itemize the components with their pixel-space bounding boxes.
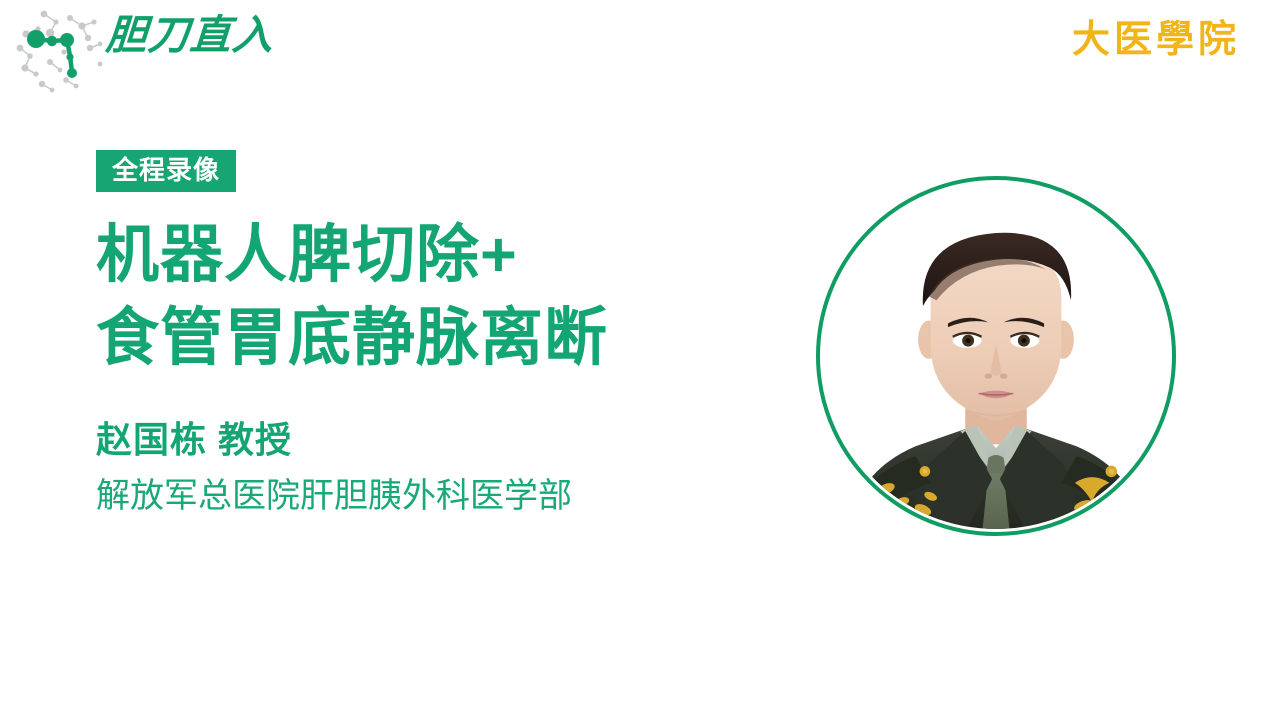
- brand-wordmark: 胆刀直入: [105, 15, 276, 56]
- avatar: [816, 176, 1176, 536]
- presenter-affiliation: 解放军总医院肝胆胰外科医学部: [96, 476, 796, 517]
- academy-wordmark: 大医學院: [1072, 20, 1240, 58]
- presenter-name: 赵国栋 教授: [96, 418, 796, 461]
- portrait-illustration: [823, 183, 1169, 529]
- network-nodes-logo: [4, 0, 114, 100]
- title-line-2: 食管胃底静脉离断: [96, 297, 796, 380]
- slide-root: 胆刀直入 大医學院 全程录像 机器人脾切除+ 食管胃底静脉离断 赵国栋 教授 解…: [0, 0, 1280, 720]
- avatar-image-clip: [823, 183, 1169, 529]
- content-column: 全程录像 机器人脾切除+ 食管胃底静脉离断 赵国栋 教授 解放军总医院肝胆胰外科…: [96, 150, 796, 516]
- status-badge: 全程录像: [96, 150, 236, 192]
- title-line-1: 机器人脾切除+: [96, 214, 796, 297]
- page-title: 机器人脾切除+ 食管胃底静脉离断: [96, 214, 796, 380]
